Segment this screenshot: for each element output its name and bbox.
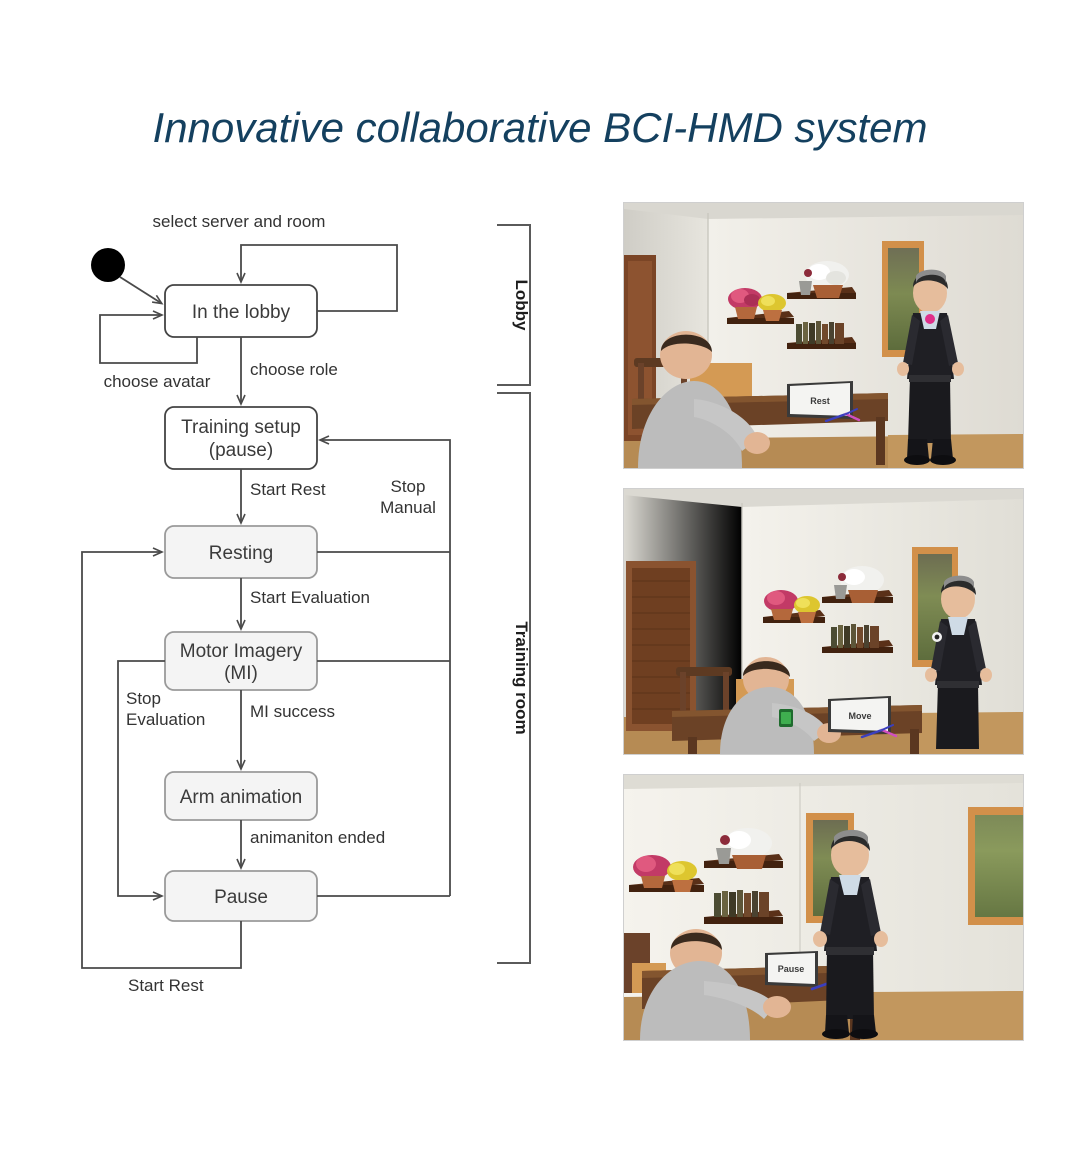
edge-label-choose-role: choose role (250, 360, 338, 379)
node-label-mi-line2: (MI) (224, 663, 258, 684)
desk-sign-2: Move (828, 696, 891, 734)
state-diagram-panel: In the lobby Training setup (pause) Rest… (60, 195, 580, 1005)
edge-label-mi-success: MI success (250, 702, 335, 721)
initial-state-dot (91, 248, 125, 282)
edge-start-evaluation: Start Evaluation (241, 578, 370, 628)
desk-sign-text-2: Move (848, 711, 871, 721)
region-bracket-training-room: Training room (497, 393, 531, 963)
vr-screenshot-move[interactable]: Move (623, 488, 1024, 755)
edge-label-stop-evaluation-line1: Stop (126, 689, 161, 708)
edge-choose-role: choose role (241, 337, 338, 403)
node-resting[interactable]: Resting (165, 526, 317, 578)
node-label-arm: Arm animation (180, 787, 303, 808)
vr-screenshot-rest[interactable]: Rest (623, 202, 1024, 469)
desk-sign-text-3: Pause (778, 964, 805, 974)
node-arm-animation[interactable]: Arm animation (165, 772, 317, 820)
node-label-setup-line2: (pause) (209, 440, 273, 461)
edge-label-stop-manual-line1: Stop (391, 477, 426, 496)
node-label-pause: Pause (214, 887, 268, 908)
table-object-green (779, 709, 793, 727)
node-label-resting: Resting (209, 543, 273, 564)
desk-sign-text-1: Rest (810, 396, 830, 406)
desk-sign-3: Pause (765, 951, 818, 987)
edge-label-start-rest-1: Start Rest (250, 480, 326, 499)
edge-start-rest-setup-to-resting: Start Rest (241, 469, 326, 522)
edge-mi-success: MI success (241, 690, 335, 768)
edge-start-to-lobby (120, 277, 161, 303)
screenshot-gallery: Rest (623, 202, 1023, 1042)
edge-label-select-server: select server and room (153, 212, 326, 231)
region-bracket-lobby: Lobby (497, 225, 531, 385)
edge-label-stop-evaluation-line2: Evaluation (126, 710, 205, 729)
vr-screenshot-pause[interactable]: Pause (623, 774, 1024, 1041)
region-label-lobby: Lobby (512, 280, 531, 332)
desk-sign-1: Rest (787, 381, 853, 419)
node-label-lobby: In the lobby (192, 302, 291, 323)
edge-label-animation-ended: animaniton ended (250, 828, 385, 847)
node-in-the-lobby[interactable]: In the lobby (165, 285, 317, 337)
node-label-mi-line1: Motor Imagery (180, 641, 303, 662)
edge-label-choose-avatar: choose avatar (104, 372, 211, 391)
page-title: Innovative collaborative BCI-HMD system (0, 104, 1080, 152)
edge-label-start-rest-2: Start Rest (128, 976, 204, 995)
node-pause[interactable]: Pause (165, 871, 317, 921)
node-training-setup[interactable]: Training setup (pause) (165, 407, 317, 469)
edge-animation-ended: animaniton ended (241, 820, 385, 867)
node-label-setup-line1: Training setup (181, 417, 301, 438)
edge-label-stop-manual-line2: Manual (380, 498, 436, 517)
region-label-training-room: Training room (512, 621, 531, 734)
node-motor-imagery[interactable]: Motor Imagery (MI) (165, 632, 317, 690)
edge-label-start-evaluation: Start Evaluation (250, 588, 370, 607)
